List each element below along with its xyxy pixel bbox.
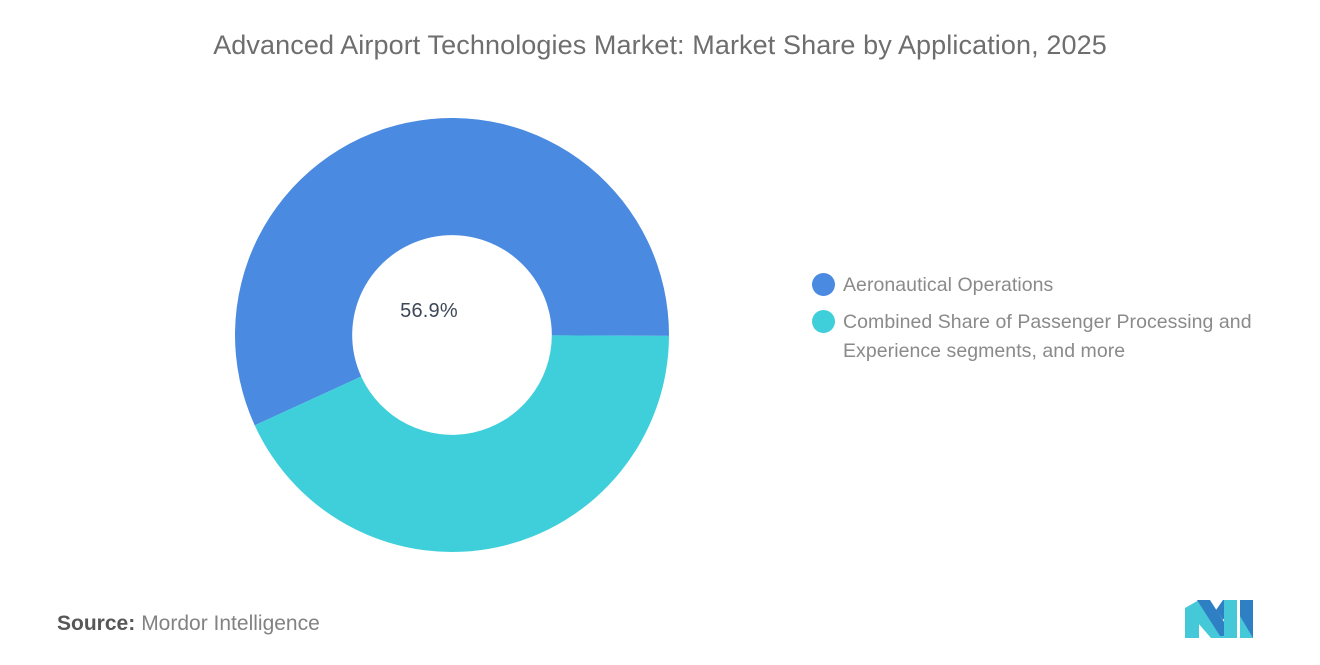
legend-label-combined-share: Combined Share of Passenger Processing a…	[843, 308, 1268, 366]
legend-item-combined-share[interactable]: Combined Share of Passenger Processing a…	[812, 308, 1282, 366]
mordor-intelligence-logo-icon	[1183, 598, 1255, 640]
chart-legend: Aeronautical Operations Combined Share o…	[812, 271, 1282, 374]
source-value: Mordor Intelligence	[141, 612, 320, 635]
legend-swatch-combined-share	[812, 310, 835, 333]
source-line: Source:Mordor Intelligence	[57, 612, 320, 636]
source-label: Source:	[57, 612, 135, 635]
legend-label-aeronautical-operations: Aeronautical Operations	[843, 271, 1053, 300]
page-title: Advanced Airport Technologies Market: Ma…	[0, 30, 1320, 61]
legend-item-aeronautical-operations[interactable]: Aeronautical Operations	[812, 271, 1282, 300]
donut-chart-svg	[235, 118, 669, 552]
donut-chart: 56.9%	[235, 118, 669, 552]
legend-swatch-aeronautical-operations	[812, 273, 835, 296]
logo-svg	[1183, 598, 1255, 640]
